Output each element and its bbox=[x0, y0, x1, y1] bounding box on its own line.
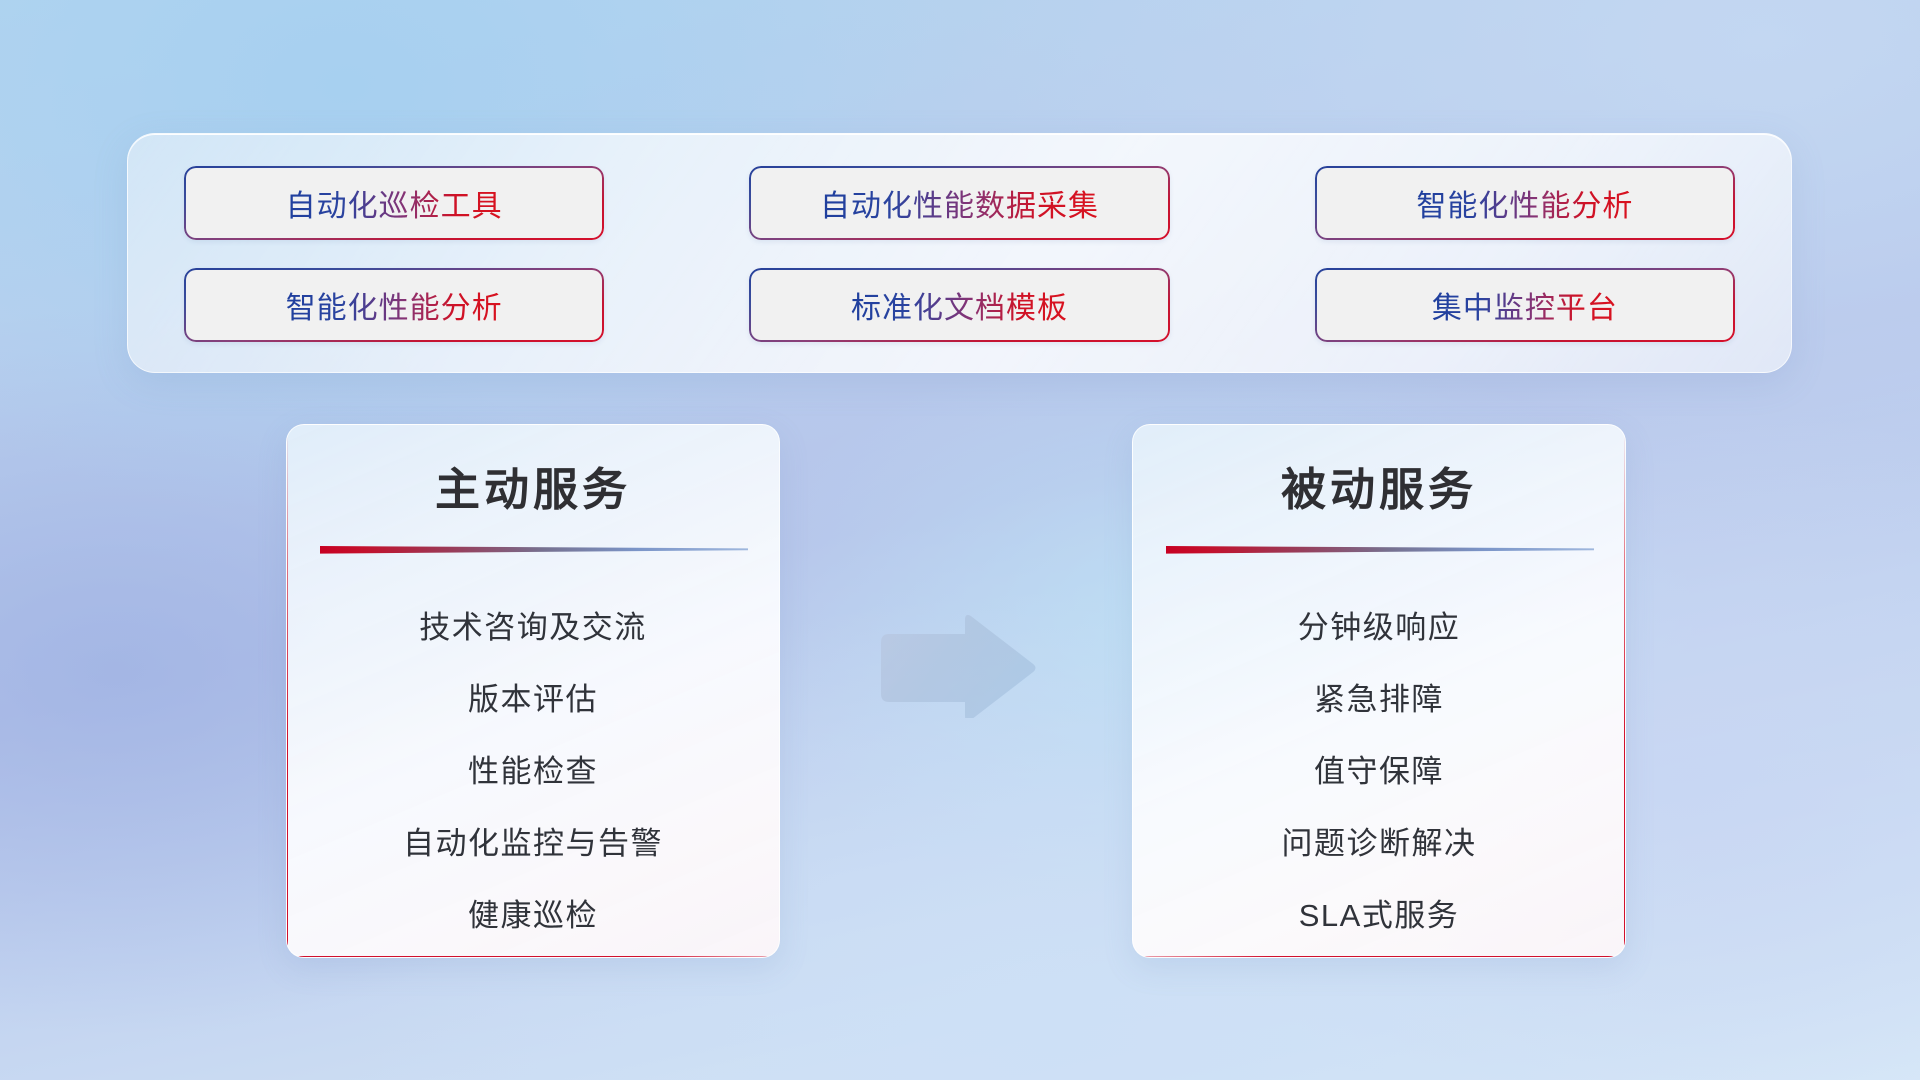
capability-pill-label: 智能化性能分析 bbox=[286, 283, 503, 327]
card-title: 主动服务 bbox=[287, 453, 779, 518]
capability-pill[interactable]: 集中监控平台 bbox=[1315, 268, 1735, 342]
capability-pill[interactable]: 标准化文档模板 bbox=[749, 268, 1169, 342]
list-item[interactable]: 性能检查 bbox=[287, 736, 779, 808]
capability-pill-label: 自动化性能数据采集 bbox=[820, 181, 1099, 225]
capability-pill[interactable]: 自动化性能数据采集 bbox=[749, 166, 1169, 240]
capability-pill-label: 自动化巡检工具 bbox=[286, 181, 503, 225]
card-accent-edge bbox=[286, 425, 288, 957]
service-card-reactive: 被动服务 分钟级响应 紧急排障 值守保障 问题诊断解决 SLA式服务 bbox=[1132, 424, 1626, 958]
list-item[interactable]: 值守保障 bbox=[1133, 736, 1625, 808]
service-card-proactive: 主动服务 技术咨询及交流 版本评估 性能检查 自动化监控与告警 健康巡检 bbox=[286, 424, 780, 958]
card-item-list: 分钟级响应 紧急排障 值守保障 问题诊断解决 SLA式服务 bbox=[1133, 592, 1625, 952]
capability-pill[interactable]: 自动化巡检工具 bbox=[184, 166, 604, 240]
card-accent-edge bbox=[1624, 425, 1626, 957]
list-item[interactable]: 技术咨询及交流 bbox=[287, 592, 779, 664]
list-item[interactable]: 紧急排障 bbox=[1133, 664, 1625, 736]
card-divider bbox=[1166, 544, 1592, 558]
capability-pill-label: 集中监控平台 bbox=[1432, 283, 1618, 327]
gradient-wedge-icon bbox=[1166, 544, 1594, 555]
list-item[interactable]: 自动化监控与告警 bbox=[287, 808, 779, 880]
card-accent-bottom bbox=[1133, 956, 1625, 958]
list-item[interactable]: SLA式服务 bbox=[1133, 880, 1625, 952]
capabilities-panel: 自动化巡检工具 自动化性能数据采集 智能化性能分析 智能化性能分析 标准化文档模… bbox=[127, 133, 1792, 373]
card-title: 被动服务 bbox=[1133, 453, 1625, 518]
capability-pill-grid: 自动化巡检工具 自动化性能数据采集 智能化性能分析 智能化性能分析 标准化文档模… bbox=[184, 166, 1735, 342]
arrow-right-icon bbox=[875, 614, 1038, 718]
capability-pill-label: 智能化性能分析 bbox=[1416, 181, 1633, 225]
card-accent-bottom bbox=[287, 956, 779, 958]
list-item[interactable]: 分钟级响应 bbox=[1133, 592, 1625, 664]
list-item[interactable]: 问题诊断解决 bbox=[1133, 808, 1625, 880]
card-item-list: 技术咨询及交流 版本评估 性能检查 自动化监控与告警 健康巡检 bbox=[287, 592, 779, 952]
list-item[interactable]: 健康巡检 bbox=[287, 880, 779, 952]
gradient-wedge-icon bbox=[320, 544, 748, 555]
list-item[interactable]: 版本评估 bbox=[287, 664, 779, 736]
capability-pill-label: 标准化文档模板 bbox=[851, 283, 1068, 327]
card-divider bbox=[320, 544, 746, 558]
capability-pill[interactable]: 智能化性能分析 bbox=[184, 268, 604, 342]
capability-pill[interactable]: 智能化性能分析 bbox=[1315, 166, 1735, 240]
